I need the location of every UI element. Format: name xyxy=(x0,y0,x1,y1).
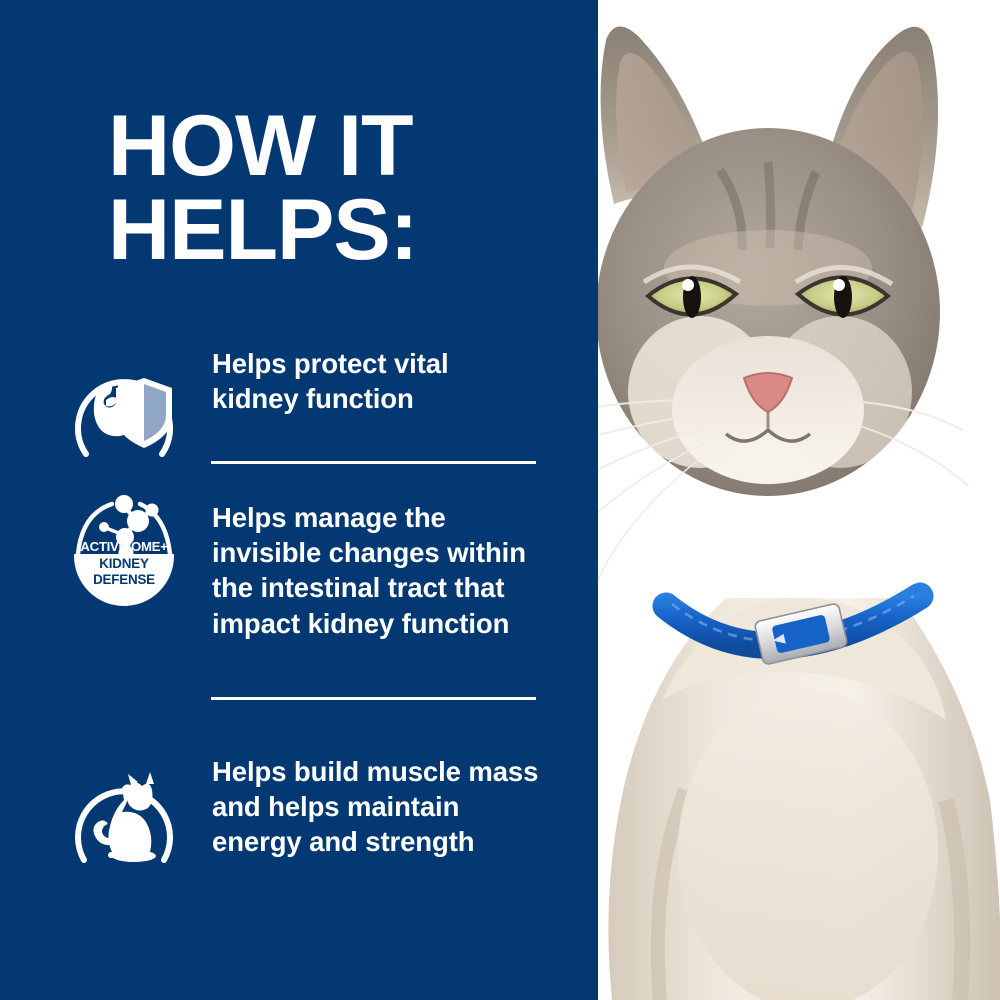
benefit-text-1: Helps protect vital kidney function xyxy=(212,346,587,416)
infographic-canvas: HOW IT HELPS: Helps protect vital kidney… xyxy=(0,0,1000,1000)
benefit-text-3: Helps build muscle mass and helps mainta… xyxy=(212,754,602,860)
collar-buckle xyxy=(754,603,848,665)
page-title: HOW IT HELPS: xyxy=(108,104,578,273)
cat-eye-right xyxy=(798,276,888,318)
divider-1 xyxy=(211,461,536,464)
activbiome-kidney-defense-badge: ACTIVBIOME+ KIDNEY DEFENSE xyxy=(62,490,186,618)
cat-eye-left xyxy=(648,276,736,318)
kidney-shield-icon xyxy=(62,344,186,468)
divider-2 xyxy=(211,697,536,700)
sitting-cat-icon xyxy=(62,752,186,876)
badge-subtitle-label: KIDNEY DEFENSE xyxy=(74,556,174,587)
benefit-text-2: Helps manage the invisible changes withi… xyxy=(212,500,592,641)
badge-brand-label: ACTIVBIOME+ xyxy=(62,539,186,554)
